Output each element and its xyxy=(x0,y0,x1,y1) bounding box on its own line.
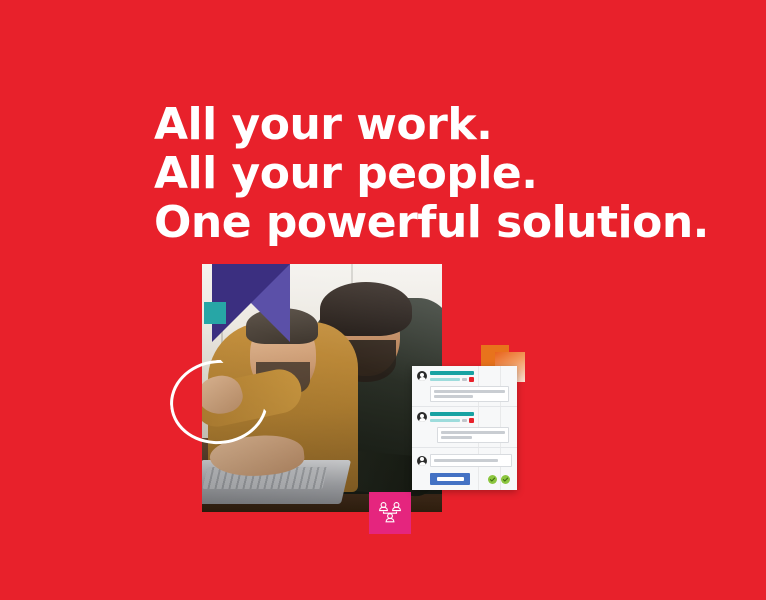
compose-actions xyxy=(417,473,512,485)
user-avatar-icon xyxy=(417,371,427,381)
comment-input-placeholder xyxy=(434,459,498,462)
teal-square-accent xyxy=(204,302,226,324)
comment-header xyxy=(417,371,512,382)
user-avatar-icon xyxy=(417,412,427,422)
comment-item[interactable] xyxy=(412,366,517,407)
comment-item[interactable] xyxy=(412,407,517,448)
compose-header xyxy=(417,454,512,467)
comment-subline xyxy=(430,377,512,382)
promo-banner: All your work. All your people. One powe… xyxy=(0,0,766,600)
comment-input[interactable] xyxy=(430,454,512,467)
unread-badge xyxy=(469,377,474,382)
comment-timestamp xyxy=(430,378,460,381)
comment-meta xyxy=(430,412,512,423)
comment-timestamp xyxy=(430,419,460,422)
submit-button[interactable] xyxy=(430,473,470,485)
comment-header xyxy=(417,412,512,423)
comment-body xyxy=(437,427,509,443)
unread-badge xyxy=(469,418,474,423)
comment-author-name xyxy=(430,412,474,416)
comment-tag xyxy=(462,419,467,422)
comment-text-line xyxy=(441,436,472,439)
comment-meta xyxy=(430,371,512,382)
comments-panel xyxy=(412,366,517,490)
comment-text-line xyxy=(434,395,473,398)
headline-line-3: One powerful solution. xyxy=(154,198,674,247)
comment-author-name xyxy=(430,371,474,375)
status-icon-group xyxy=(488,475,512,484)
hero-composition xyxy=(202,264,442,512)
headline-line-1: All your work. xyxy=(154,100,674,149)
comment-subline xyxy=(430,418,512,423)
people-org-chart-badge xyxy=(369,492,411,534)
comment-compose-row xyxy=(412,448,517,491)
comment-tag xyxy=(462,378,467,381)
check-circle-icon[interactable] xyxy=(488,475,497,484)
user-avatar-icon xyxy=(417,456,427,466)
org-chart-people-icon xyxy=(377,501,403,525)
page-title: All your work. All your people. One powe… xyxy=(154,100,674,247)
comment-body xyxy=(430,386,509,402)
check-circle-icon[interactable] xyxy=(501,475,510,484)
headline-line-2: All your people. xyxy=(154,149,674,198)
comment-text-line xyxy=(441,431,505,434)
comment-text-line xyxy=(434,390,505,393)
